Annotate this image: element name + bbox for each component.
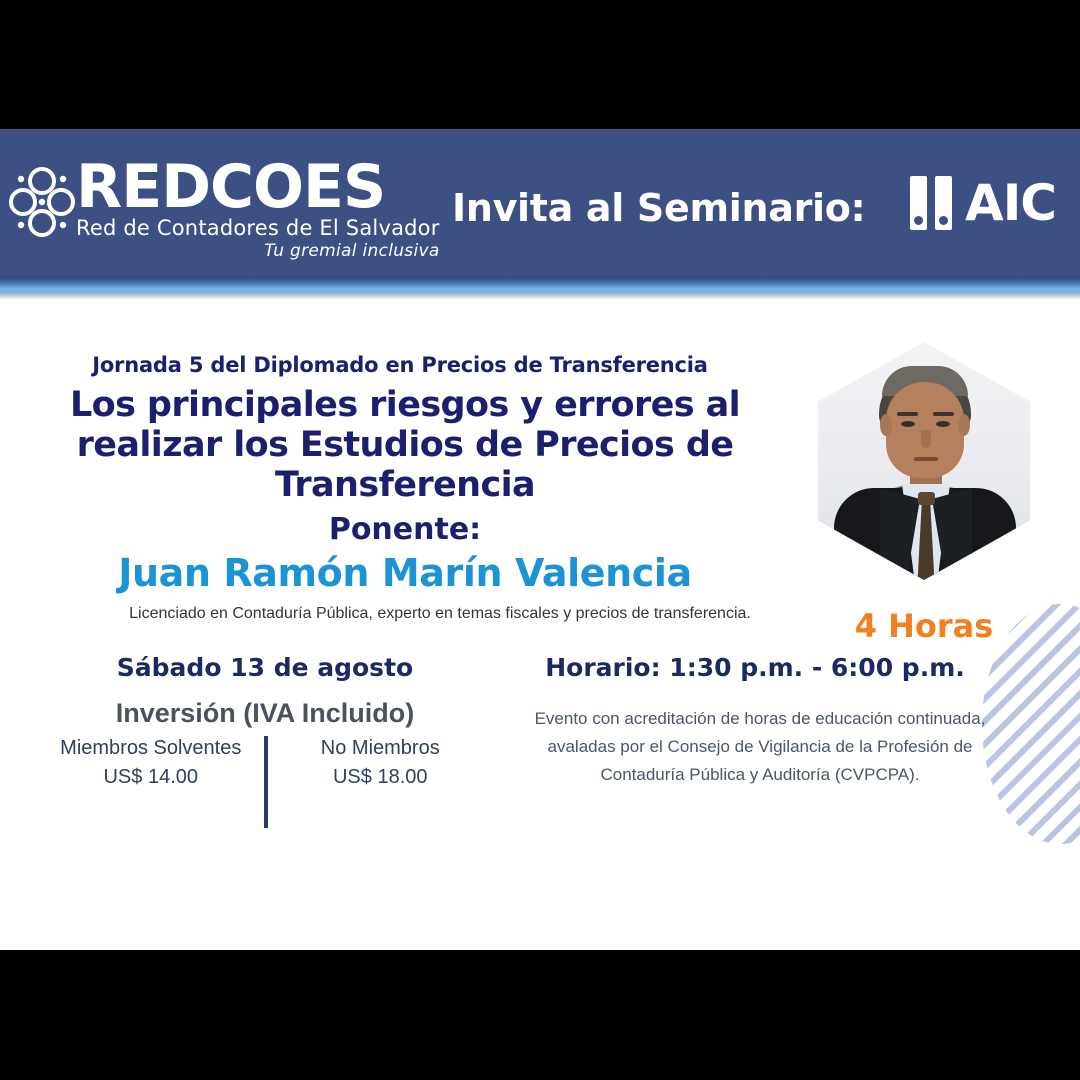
brand-name: REDCOES: [76, 159, 440, 215]
aic-logo: AIC: [910, 174, 1056, 232]
brand-subtitle: Red de Contadores de El Salvador: [76, 216, 440, 240]
price-member: Miembros Solventes US$ 14.00: [38, 734, 264, 828]
invite-heading: Invita al Seminario:: [452, 186, 865, 230]
price-nonmember: No Miembros US$ 18.00: [268, 734, 494, 828]
speaker-label: Ponente:: [60, 512, 750, 547]
accreditation-text: Evento con acreditación de horas de educ…: [510, 705, 1010, 789]
speaker-name: Juan Ramón Marín Valencia: [60, 551, 750, 595]
price-member-amount: US$ 14.00: [38, 763, 264, 792]
letterbox-bottom: [0, 950, 1080, 1080]
speaker-bio: Licenciado en Contaduría Pública, expert…: [60, 605, 820, 623]
price-nonmember-label: No Miembros: [268, 734, 494, 763]
investment-label: Inversión (IVA Incluido): [50, 698, 480, 729]
event-date: Sábado 13 de agosto: [50, 653, 480, 682]
aic-bars-icon: [910, 176, 952, 230]
brand-tagline: Tu gremial inclusiva: [76, 241, 440, 261]
price-nonmember-amount: US$ 18.00: [268, 763, 494, 792]
speaker-photo-hexagon: [808, 330, 1040, 592]
header-band: REDCOES Red de Contadores de El Salvador…: [0, 129, 1080, 274]
aic-logo-text: AIC: [965, 174, 1056, 232]
kicker-text: Jornada 5 del Diplomado en Precios de Tr…: [0, 353, 800, 377]
poster-canvas: REDCOES Red de Contadores de El Salvador…: [0, 129, 1080, 950]
price-member-label: Miembros Solventes: [38, 734, 264, 763]
letterbox-top: [0, 0, 1080, 129]
header-gradient-divider: [0, 274, 1080, 300]
brand-lockup: REDCOES Red de Contadores de El Salvador…: [76, 159, 440, 261]
redcoes-circles-icon: [8, 165, 76, 239]
event-schedule: Horario: 1:30 p.m. - 6:00 p.m.: [520, 653, 990, 682]
poster-root: REDCOES Red de Contadores de El Salvador…: [0, 0, 1080, 1080]
page-title: Los principales riesgos y errores al rea…: [60, 385, 750, 505]
price-row: Miembros Solventes US$ 14.00 No Miembros…: [38, 734, 493, 828]
avatar: [818, 342, 1030, 580]
